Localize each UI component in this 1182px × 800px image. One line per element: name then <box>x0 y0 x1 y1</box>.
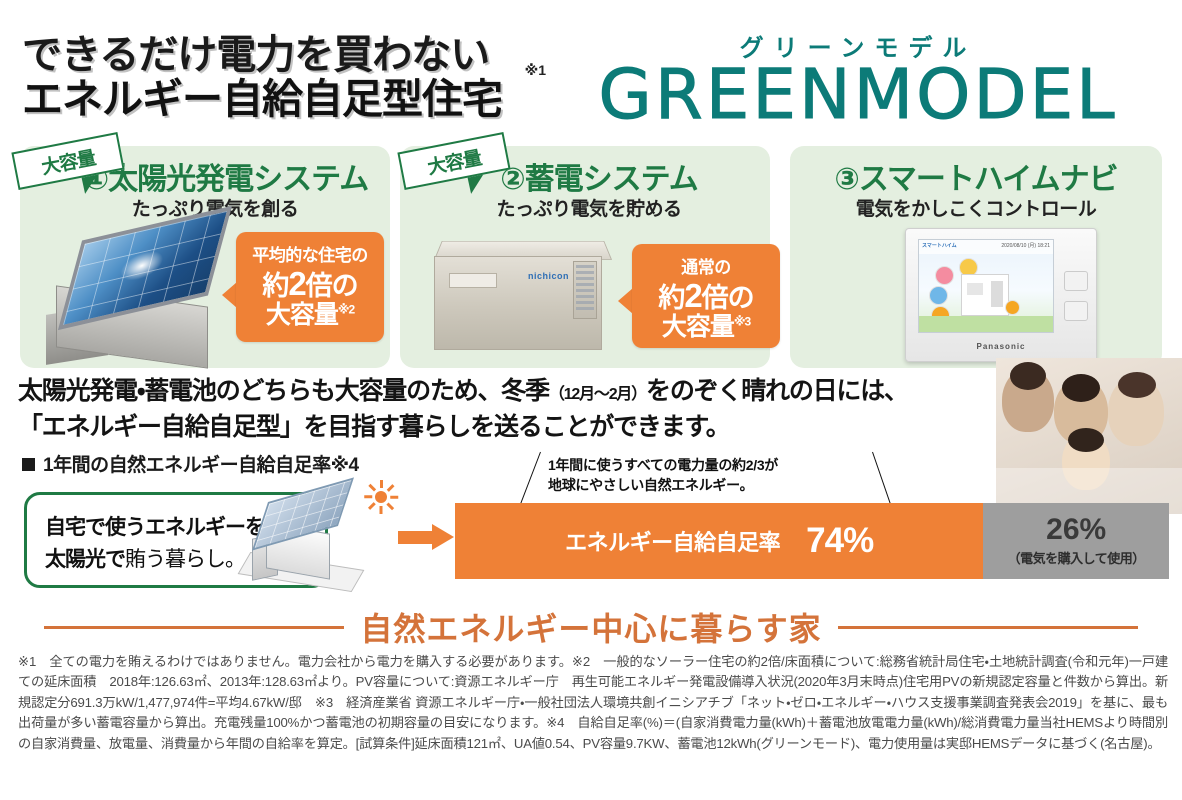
section-heading-self-sufficiency: 1年間の自然エネルギー自給自足率※4 <box>22 450 359 477</box>
lead-line-1a: 太陽光発電・蓄電池のどちらも大容量のため、冬季 <box>18 377 549 405</box>
navi-screen: スマートハイム 2020/08/10 (月) 18:21 <box>918 239 1054 333</box>
tagline-banner: 自然エネルギー中心に暮らす家 <box>0 604 1182 650</box>
lead-line-1b: （12月〜2月） <box>549 386 646 403</box>
callout-1-line-3: 大容量※2 <box>236 302 384 328</box>
callout-1-line-1: 平均的な住宅の <box>236 241 384 266</box>
headline-line-2: エネルギー自給自足型住宅 <box>22 77 552 122</box>
annotation-line-1: 1年間に使うすべての電力量の約2/3が <box>548 457 778 473</box>
bar-segment-purchased: 26% （電気を購入して使用） <box>983 503 1169 579</box>
navi-hard-button-top[interactable] <box>1064 271 1088 291</box>
sun-icon <box>366 482 396 512</box>
callout-1-line-2: 約2倍の <box>236 266 384 302</box>
annotation-line-2: 地球にやさしい自然エネルギー。 <box>548 477 753 493</box>
navi-pin-icon <box>1005 300 1020 315</box>
callout-arrow-2 <box>618 288 633 314</box>
family-member-father <box>1002 368 1054 432</box>
headline-footnote-mark: ※1 <box>525 62 546 79</box>
family-photo <box>996 358 1182 514</box>
tagline-rule-right <box>838 626 1138 629</box>
greenmodel-logo: グリーンモデル GREENMODEL <box>548 28 1168 129</box>
panel-3-subtitle: 電気をかしこくコントロール <box>790 194 1162 221</box>
callout-2-line-1: 通常の <box>632 253 780 278</box>
panel-2-subtitle: たっぷり電気を貯める <box>400 194 770 221</box>
page-headline: できるだけ電力を買わない エネルギー自給自足型住宅 ※1 <box>22 34 552 122</box>
callout-2-line-2: 約2倍の <box>632 278 780 314</box>
green-box-line-1: 自宅で使うエネルギーを <box>45 511 265 541</box>
navi-bubble-battery-icon <box>929 286 948 305</box>
footnotes-block: ※1 全ての電力を賄えるわけではありません。電力会社から電力を購入する必要があり… <box>18 652 1168 754</box>
logo-wordmark: GREENMODEL <box>548 63 1168 129</box>
lead-line-1c: をのぞく晴れの日には、 <box>646 377 908 405</box>
lead-line-2: 「エネルギー自給自足型」を目指す暮らしを送ることができます。 <box>18 413 730 441</box>
navi-brand-mark: Panasonic <box>906 342 1096 351</box>
callout-arrow-1 <box>222 282 237 308</box>
family-member-grandmother <box>1108 376 1164 446</box>
isometric-solar-house-icon <box>240 486 370 586</box>
battery-unit-photo: nichicon <box>432 238 612 350</box>
chart-annotation: 1年間に使うすべての電力量の約2/3が 地球にやさしい自然エネルギー。 <box>548 455 878 496</box>
infographic-page: できるだけ電力を買わない エネルギー自給自足型住宅 ※1 グリーンモデル GRE… <box>0 0 1182 800</box>
self-sufficiency-bar-chart: エネルギー自給自足率 74% 26% （電気を購入して使用） <box>455 503 1169 579</box>
smart-navi-device-photo: スマートハイム 2020/08/10 (月) 18:21 Panasonic <box>905 228 1097 362</box>
bar-segment-self-supplied: エネルギー自給自足率 74% <box>455 503 983 579</box>
bar-segment-1-label: （電気を購入して使用） <box>1008 548 1145 567</box>
navi-house-graphic <box>961 274 1009 316</box>
bullet-square-icon <box>22 458 35 471</box>
lead-paragraph: 太陽光発電・蓄電池のどちらも大容量のため、冬季（12月〜2月）をのぞく晴れの日に… <box>18 374 1008 445</box>
battery-brand-mark: nichicon <box>528 271 569 281</box>
panel-3-title: ③スマートハイムナビ <box>790 154 1162 198</box>
navi-hard-button-bottom[interactable] <box>1064 301 1088 321</box>
bar-segment-1-value: 26% <box>1046 515 1106 545</box>
bar-segment-0-value: 74% <box>806 521 873 561</box>
callout-battery-capacity: 通常の 約2倍の 大容量※3 <box>632 244 780 348</box>
headline-line-1: できるだけ電力を買わない <box>22 34 552 77</box>
navi-screen-title: スマートハイム <box>922 242 957 249</box>
solar-panel-house-photo <box>42 222 232 362</box>
bar-segment-0-label: エネルギー自給自足率 <box>565 525 780 557</box>
navi-bubble-alert-icon <box>935 266 954 285</box>
green-box-line-2: 太陽光で賄う暮らし。 <box>45 543 245 573</box>
tagline-text: 自然エネルギー中心に暮らす家 <box>360 604 821 650</box>
tagline-rule-left <box>44 626 344 629</box>
section-heading-label: 1年間の自然エネルギー自給自足率※4 <box>43 455 359 476</box>
flow-arrow-icon <box>398 524 454 550</box>
navi-screen-timestamp: 2020/08/10 (月) 18:21 <box>1001 242 1050 249</box>
callout-2-line-3: 大容量※3 <box>632 314 780 340</box>
callout-solar-capacity: 平均的な住宅の 約2倍の 大容量※2 <box>236 232 384 342</box>
